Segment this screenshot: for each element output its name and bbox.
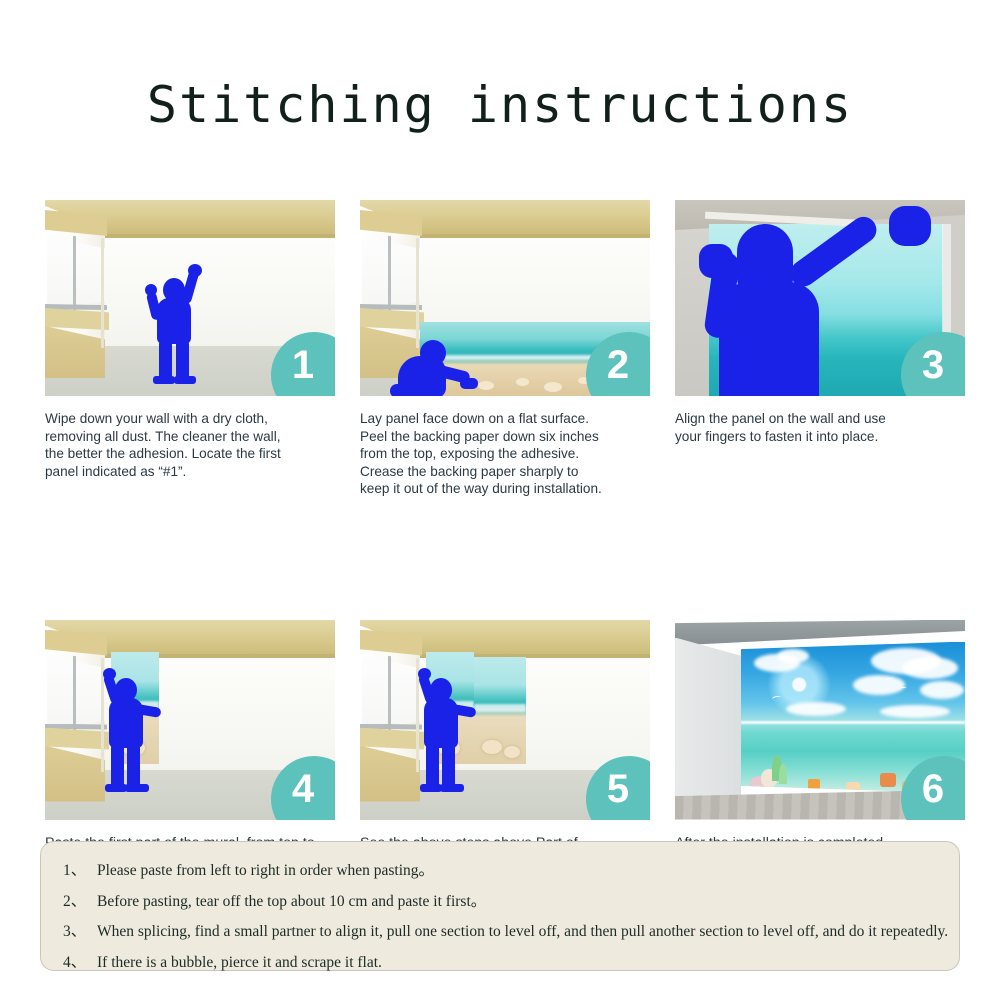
step-3-caption: Align the panel on the wall and use your…: [675, 410, 965, 445]
step-3: 3 Align the panel on the wall and use yo…: [675, 200, 965, 498]
left-wall: [675, 638, 741, 820]
note-item: 2、 Before pasting, tear off the top abou…: [63, 889, 937, 911]
mural-strip-2: [474, 657, 526, 764]
note-item: 3、 When splicing, find a small partner t…: [63, 919, 937, 941]
window-glass: [362, 236, 420, 310]
window-mullion: [73, 655, 76, 732]
window-mullion: [388, 655, 391, 732]
window-mullion: [388, 236, 391, 313]
step-1-caption: Wipe down your wall with a dry cloth, re…: [45, 410, 335, 480]
note-text: Please paste from left to right in order…: [97, 858, 434, 880]
step-1-illustration: 1: [45, 200, 335, 396]
wall-corner: [416, 238, 419, 348]
wall-corner: [101, 238, 104, 348]
step-4-illustration: 4: [45, 620, 335, 820]
ceiling: [675, 620, 965, 646]
note-number: 4、: [63, 950, 97, 972]
note-text: If there is a bubble, pierce it and scra…: [97, 954, 382, 972]
step-2: 2 Lay panel face down on a flat surface.…: [360, 200, 650, 498]
seagull-icon: [772, 695, 782, 702]
window-glass: [47, 656, 105, 730]
note-number: 2、: [63, 889, 97, 911]
note-number: 1、: [63, 858, 97, 880]
step-6-illustration: 6: [675, 620, 965, 820]
note-text: When splicing, find a small partner to a…: [97, 923, 948, 941]
step-2-caption: Lay panel face down on a flat surface. P…: [360, 410, 650, 498]
steps-grid: 1 Wipe down your wall with a dry cloth, …: [45, 200, 965, 912]
horizon-line: [741, 721, 965, 724]
step-2-illustration: 2: [360, 200, 650, 396]
step-1: 1 Wipe down your wall with a dry cloth, …: [45, 200, 335, 498]
back-wall: [103, 238, 335, 348]
seagull-icon: [897, 686, 907, 693]
note-item: 1、 Please paste from left to right in or…: [63, 858, 937, 880]
window-mullion: [73, 236, 76, 313]
page-title: Stitching instructions: [0, 76, 1000, 134]
window-glass: [362, 656, 420, 730]
note-number: 3、: [63, 919, 97, 941]
surf-foam: [474, 704, 526, 713]
step-3-illustration: 3: [675, 200, 965, 396]
steps-row-top: 1 Wipe down your wall with a dry cloth, …: [45, 200, 965, 498]
step-5-illustration: 5: [360, 620, 650, 820]
note-item: 4、 If there is a bubble, pierce it and s…: [63, 950, 937, 972]
notes-box: 1、 Please paste from left to right in or…: [40, 841, 960, 971]
note-text: Before pasting, tear off the top about 1…: [97, 889, 486, 911]
window-glass: [47, 236, 105, 310]
